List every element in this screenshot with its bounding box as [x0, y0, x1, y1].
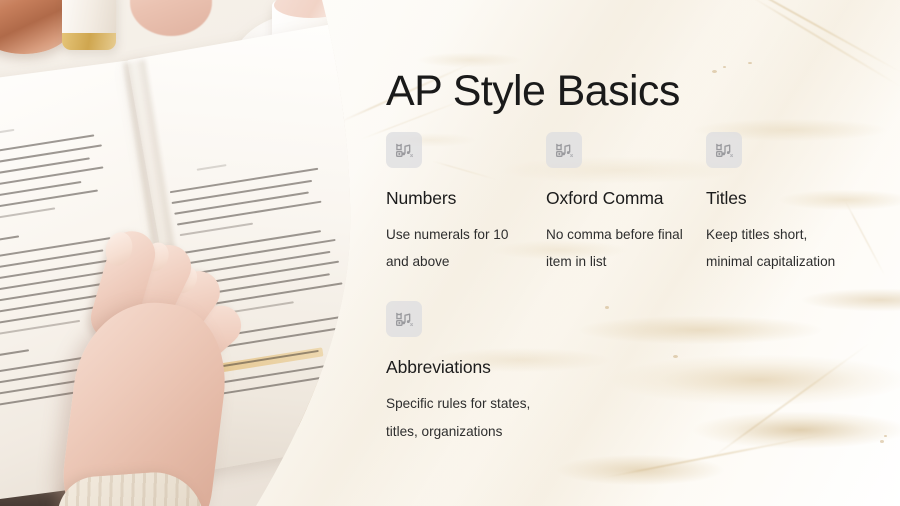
- page-title: AP Style Basics: [386, 68, 680, 115]
- broken-media-placeholder-icon: [386, 132, 422, 168]
- feature-item-oxford-comma[interactable]: Oxford Comma No comma before final item …: [546, 132, 706, 275]
- feature-item-numbers[interactable]: Numbers Use numerals for 10 and above: [386, 132, 546, 275]
- feature-title: Abbreviations: [386, 357, 534, 378]
- feature-row-1: Numbers Use numerals for 10 and above: [386, 132, 876, 275]
- feature-description: Use numerals for 10 and above: [386, 221, 534, 275]
- feature-item-titles[interactable]: Titles Keep titles short, minimal capita…: [706, 132, 866, 275]
- slide-content: AP Style Basics: [0, 0, 900, 506]
- broken-media-placeholder-icon: [386, 301, 422, 337]
- feature-description: Specific rules for states, titles, organ…: [386, 390, 534, 444]
- feature-row-2: Abbreviations Specific rules for states,…: [386, 301, 876, 444]
- feature-item-abbreviations[interactable]: Abbreviations Specific rules for states,…: [386, 301, 546, 444]
- broken-media-placeholder-icon: [706, 132, 742, 168]
- feature-title: Oxford Comma: [546, 188, 694, 209]
- slide-root: AP Style Basics: [0, 0, 900, 506]
- feature-description: No comma before final item in list: [546, 221, 694, 275]
- feature-title: Numbers: [386, 188, 534, 209]
- feature-title: Titles: [706, 188, 854, 209]
- feature-description: Keep titles short, minimal capitalizatio…: [706, 221, 854, 275]
- broken-media-placeholder-icon: [546, 132, 582, 168]
- feature-list: Numbers Use numerals for 10 and above: [386, 132, 876, 445]
